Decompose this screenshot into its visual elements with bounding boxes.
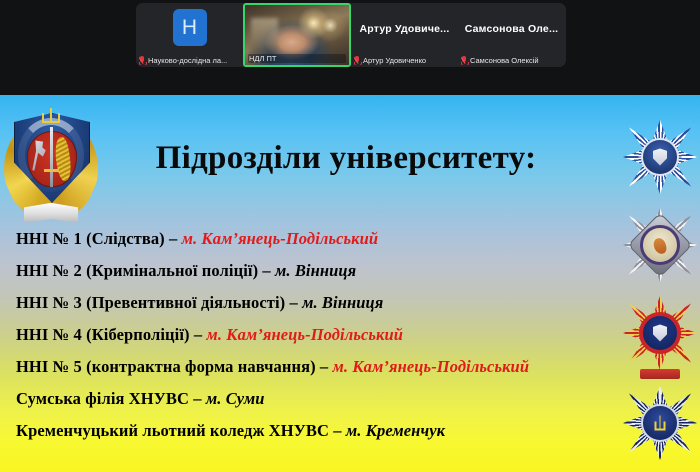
participant-label-1: Науково-дослідна ла... bbox=[139, 56, 240, 65]
mic-muted-icon bbox=[354, 56, 360, 65]
list-item-name: ННІ № 5 (контрактна форма навчання) – bbox=[16, 357, 333, 376]
screen-root: Н Науково-дослідна ла... НДЛ ПТ Артур Уд… bbox=[0, 0, 700, 472]
mic-muted-icon bbox=[139, 56, 145, 65]
list-item-name: ННІ № 1 (Слідства) – bbox=[16, 229, 182, 248]
list-item-location: м. Кам’янець-Подільський bbox=[182, 229, 379, 248]
list-item-location: м. Вінниця bbox=[275, 261, 356, 280]
participant-display-name-3: Артур Удовиче... bbox=[351, 23, 458, 35]
list-item-location: м. Кам’янець-Подільський bbox=[333, 357, 530, 376]
avatar: Н bbox=[173, 9, 207, 46]
list-item-location: м. Вінниця bbox=[302, 293, 383, 312]
list-item-location: м. Кам’янець-Подільський bbox=[206, 325, 403, 344]
participant-name-4: Самсонова Олексій bbox=[470, 56, 539, 65]
police-star-badge-blue-icon bbox=[622, 115, 698, 199]
video-conference-filmstrip: Н Науково-дослідна ла... НДЛ ПТ Артур Уд… bbox=[0, 0, 700, 95]
participant-display-name-4: Самсонова Оле... bbox=[458, 23, 565, 35]
mic-muted-icon bbox=[461, 56, 467, 65]
participant-label-3: Артур Удовиченко bbox=[354, 56, 455, 65]
participant-name-3: Артур Удовиченко bbox=[363, 56, 426, 65]
list-item-location: м. Суми bbox=[206, 389, 265, 408]
participant-tile-1[interactable]: Н Науково-дослідна ла... bbox=[136, 3, 243, 67]
list-item: ННІ № 1 (Слідства) – м. Кам’янець-Поділь… bbox=[16, 223, 636, 255]
presentation-slide: Підрозділи університету: ННІ № 1 (Слідст… bbox=[0, 95, 700, 472]
list-item-name: Сумська філія ХНУВС – bbox=[16, 389, 206, 408]
list-item: Кременчуцький льотний коледж ХНУВС – м. … bbox=[16, 415, 636, 447]
list-item: ННІ № 5 (контрактна форма навчання) – м.… bbox=[16, 351, 636, 383]
university-emblem-icon bbox=[4, 103, 98, 225]
list-item-name: ННІ № 4 (Кіберполіції) – bbox=[16, 325, 206, 344]
list-item: ННІ № 3 (Превентивної діяльності) – м. В… bbox=[16, 287, 636, 319]
list-item-name: ННІ № 3 (Превентивної діяльності) – bbox=[16, 293, 302, 312]
list-item: Сумська філія ХНУВС – м. Суми bbox=[16, 383, 636, 415]
participant-tile-2-active-speaker[interactable]: НДЛ ПТ bbox=[243, 3, 351, 67]
list-item-location: м. Кременчук bbox=[346, 421, 445, 440]
list-item-name: Кременчуцький льотний коледж ХНУВС – bbox=[16, 421, 346, 440]
participant-label-4: Самсонова Олексій bbox=[461, 56, 562, 65]
slide-title: Підрозділи університету: bbox=[96, 140, 596, 177]
list-item: ННІ № 4 (Кіберполіції) – м. Кам’янець-По… bbox=[16, 319, 636, 351]
participant-tile-3[interactable]: Артур Удовиче... Артур Удовиченко bbox=[351, 3, 458, 67]
participant-tile-4[interactable]: Самсонова Оле... Самсонова Олексій bbox=[458, 3, 565, 67]
participant-label-2: НДЛ ПТ bbox=[248, 54, 346, 63]
participant-strip: Н Науково-дослідна ла... НДЛ ПТ Артур Уд… bbox=[136, 3, 566, 67]
participant-name-1: Науково-дослідна ла... bbox=[148, 56, 227, 65]
list-item: ННІ № 2 (Кримінальної поліції) – м. Вінн… bbox=[16, 255, 636, 287]
list-item-name: ННІ № 2 (Кримінальної поліції) – bbox=[16, 261, 275, 280]
subdivision-list: ННІ № 1 (Слідства) – м. Кам’янець-Поділь… bbox=[16, 223, 636, 447]
participant-name-2: НДЛ ПТ bbox=[249, 54, 276, 63]
